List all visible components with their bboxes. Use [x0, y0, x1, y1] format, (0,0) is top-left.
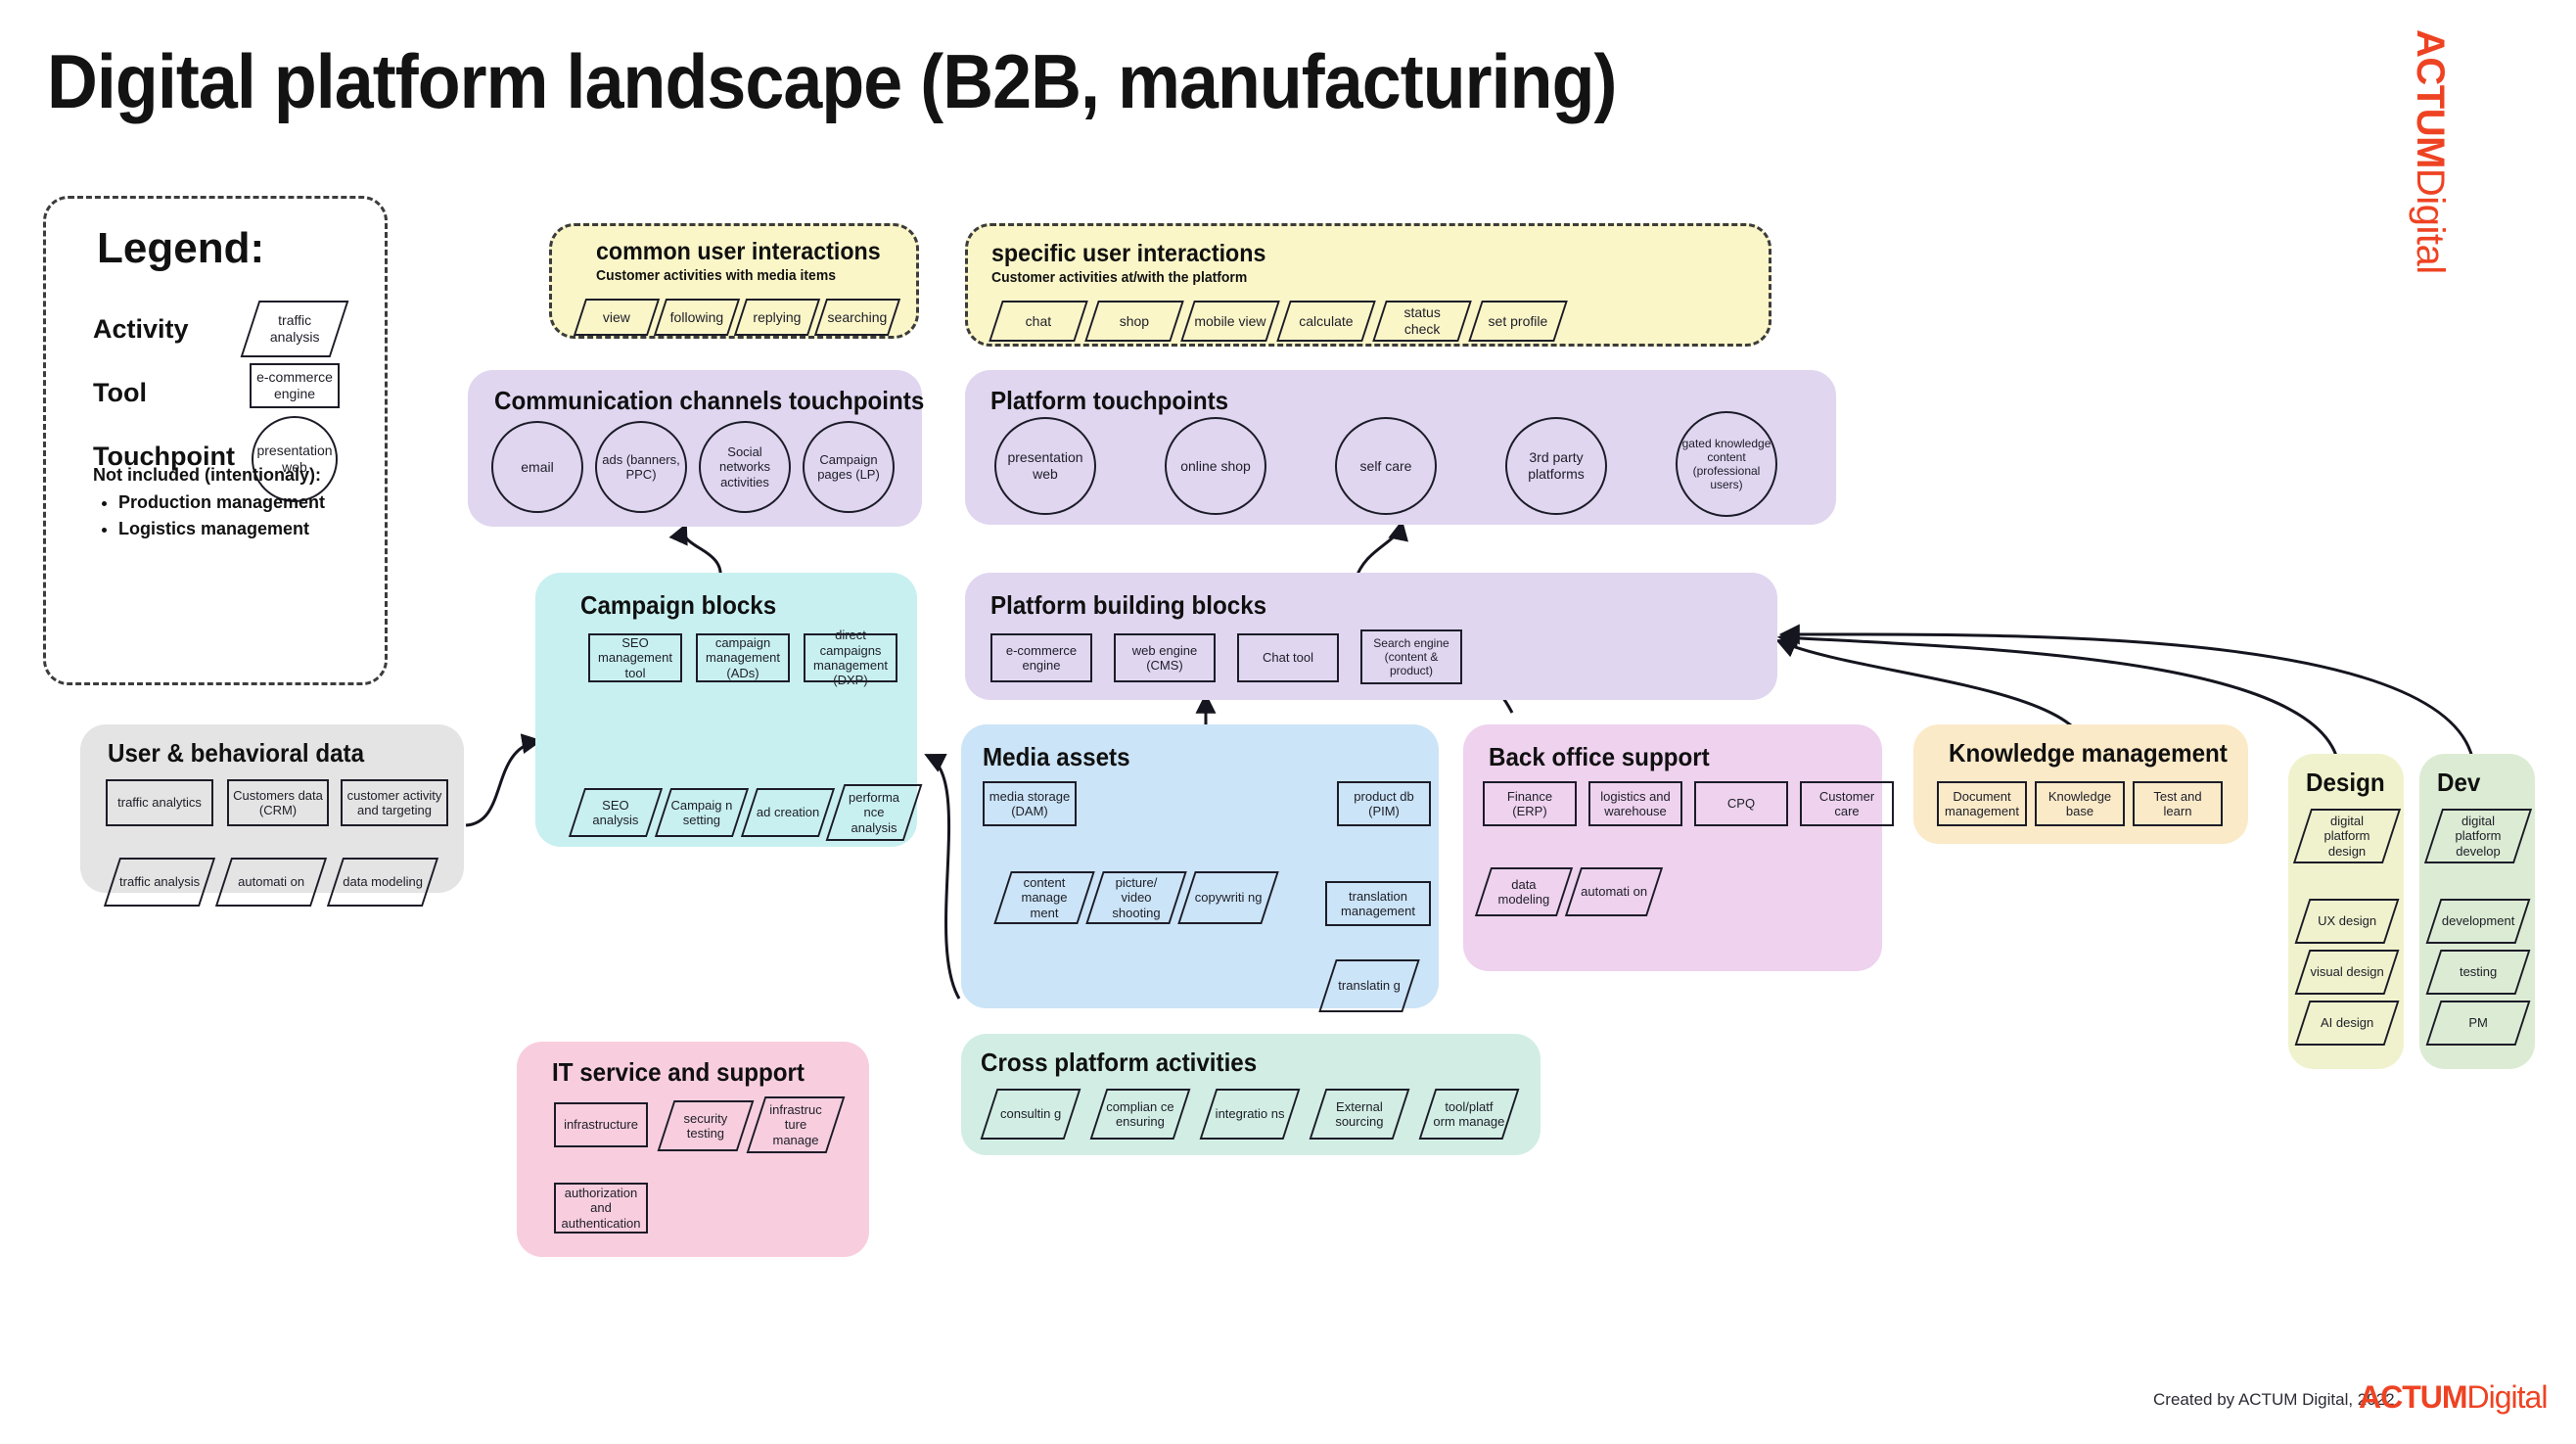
- group-media-assets: Media assets media storage (DAM) product…: [961, 724, 1439, 1008]
- tool-translation-management: translation management: [1325, 881, 1431, 926]
- activity-digital-platform-develop: digital platform develop: [2424, 809, 2532, 863]
- group-title-it-service-and-support: IT service and support: [552, 1057, 805, 1088]
- activity-seo-analysis: SEO analysis: [569, 788, 663, 837]
- group-back-office-support: Back office support Finance (ERP) logist…: [1463, 724, 1882, 971]
- group-knowledge-management: Knowledge management Document management…: [1913, 724, 2248, 844]
- group-title-dev: Dev: [2437, 768, 2480, 798]
- tool-infrastructure: infrastructure: [554, 1102, 648, 1147]
- tool-logistics-warehouse: logistics and warehouse: [1588, 781, 1682, 826]
- tool-chat-tool: Chat tool: [1237, 633, 1339, 682]
- tool-finance-erp: Finance (ERP): [1483, 781, 1577, 826]
- group-subtitle-specific-user-interactions: Customer activities at/with the platform: [991, 269, 1247, 286]
- activity-label: automati on: [229, 874, 313, 889]
- group-cross-platform-activities: Cross platform activities consultin g co…: [961, 1034, 1541, 1155]
- tool-media-storage-dam: media storage (DAM): [983, 781, 1077, 826]
- touchpoint-email: email: [491, 421, 583, 513]
- group-platform-building-blocks: Platform building blocks e-commerce engi…: [965, 573, 1777, 700]
- activity-tool-platform-manage: tool/platf orm manage: [1419, 1089, 1520, 1140]
- activity-label: translatin g: [1333, 978, 1405, 993]
- legend-sample-tool: e-commerce engine: [250, 363, 340, 408]
- activity-following: following: [654, 299, 740, 336]
- activity-pm: PM: [2426, 1001, 2531, 1046]
- touchpoint-gated-knowledge-content: gated knowledge content (professional us…: [1676, 411, 1777, 517]
- group-title-campaign-blocks: Campaign blocks: [580, 590, 776, 621]
- activity-label: visual design: [2308, 964, 2386, 979]
- activity-label: External sourcing: [1323, 1099, 1396, 1130]
- group-dev: Dev digital platform develop development…: [2419, 754, 2535, 1069]
- activity-copywriting: copywriti ng: [1177, 871, 1279, 924]
- touchpoint-social-networks: Social networks activities: [699, 421, 791, 513]
- activity-label: traffic analysis: [117, 874, 202, 889]
- group-title-platform-building-blocks: Platform building blocks: [990, 590, 1266, 621]
- footer-brand-bold: ACTUM: [2359, 1379, 2467, 1415]
- activity-status-check: status check: [1372, 301, 1472, 342]
- activity-label: data modeling: [1489, 877, 1559, 908]
- activity-label: picture/ video shooting: [1100, 875, 1173, 920]
- footer-brand-light: Digital: [2467, 1379, 2548, 1415]
- legend-not-included-list: Production management Logistics manageme…: [93, 489, 325, 542]
- activity-label: UX design: [2308, 913, 2386, 928]
- tool-search-engine: Search engine (content & product): [1360, 629, 1462, 684]
- activity-external-sourcing: External sourcing: [1310, 1089, 1410, 1140]
- activity-ad-creation: ad creation: [741, 788, 835, 837]
- touchpoint-campaign-pages: Campaign pages (LP): [803, 421, 895, 513]
- group-title-communication-channels: Communication channels touchpoints: [494, 386, 924, 416]
- legend-panel: Legend: Activity traffic analysis Tool e…: [43, 196, 388, 685]
- wire-pbb-to-touchpoints: [1356, 524, 1402, 580]
- tool-direct-campaigns-dxp: direct campaigns management (DXP): [804, 633, 897, 682]
- activity-label: tool/platf orm manage: [1433, 1099, 1505, 1130]
- activity-label: set profile: [1481, 313, 1555, 330]
- tool-customer-care: Customer care: [1800, 781, 1894, 826]
- activity-label: data modeling: [341, 874, 425, 889]
- legend-not-included-item: Logistics management: [118, 516, 325, 542]
- activity-label: mobile view: [1193, 313, 1267, 330]
- group-specific-user-interactions: specific user interactions Customer acti…: [965, 223, 1771, 347]
- tool-e-commerce-engine: e-commerce engine: [990, 633, 1092, 682]
- wire-userdata-to-campaign: [466, 741, 538, 825]
- tool-test-and-learn: Test and learn: [2133, 781, 2223, 826]
- activity-label: security testing: [671, 1111, 740, 1141]
- group-subtitle-common-user-interactions: Customer activities with media items: [596, 267, 836, 284]
- touchpoint-online-shop: online shop: [1165, 417, 1266, 515]
- legend-sample-activity-label: traffic analysis: [255, 312, 334, 345]
- activity-replying: replying: [734, 299, 820, 336]
- activity-label: content manage ment: [1008, 875, 1081, 920]
- activity-consulting: consultin g: [981, 1089, 1081, 1140]
- group-common-user-interactions: common user interactions Customer activi…: [549, 223, 919, 339]
- group-campaign-blocks: Campaign blocks SEO management tool camp…: [535, 573, 917, 847]
- group-title-knowledge-management: Knowledge management: [1949, 738, 2228, 769]
- activity-mobile-view: mobile view: [1180, 301, 1280, 342]
- group-title-back-office-support: Back office support: [1489, 742, 1710, 772]
- activity-translating: translatin g: [1318, 959, 1420, 1012]
- activity-ux-design: UX design: [2295, 899, 2400, 944]
- activity-label: automati on: [1579, 884, 1649, 899]
- touchpoint-presentation-web: presentation web: [994, 417, 1096, 515]
- activity-label: infrastruc ture manage: [761, 1102, 830, 1147]
- tool-cpq: CPQ: [1694, 781, 1788, 826]
- activity-label: chat: [1001, 313, 1076, 330]
- touchpoint-self-care: self care: [1335, 417, 1437, 515]
- group-user-behavioral-data: User & behavioral data traffic analytics…: [80, 724, 464, 893]
- tool-customers-data-crm: Customers data (CRM): [227, 779, 329, 826]
- activity-label: performa nce analysis: [841, 790, 907, 835]
- group-title-design: Design: [2306, 768, 2385, 798]
- activity-automation: automati on: [215, 858, 327, 907]
- activity-traffic-analysis: traffic analysis: [104, 858, 215, 907]
- activity-label: copywriti ng: [1192, 890, 1265, 905]
- activity-label: integratio ns: [1214, 1106, 1286, 1121]
- tool-document-management: Document management: [1937, 781, 2027, 826]
- legend-not-included-item: Production management: [118, 489, 325, 516]
- tool-customer-activity-targeting: customer activity and targeting: [341, 779, 448, 826]
- legend-label-activity: Activity: [93, 314, 189, 345]
- activity-label: following: [666, 309, 728, 326]
- activity-testing: testing: [2426, 950, 2531, 995]
- activity-label: calculate: [1289, 313, 1363, 330]
- activity-integrations: integratio ns: [1200, 1089, 1301, 1140]
- tool-traffic-analytics: traffic analytics: [106, 779, 213, 826]
- activity-security-testing: security testing: [658, 1100, 755, 1151]
- activity-label: complian ce ensuring: [1104, 1099, 1176, 1130]
- activity-label: status check: [1385, 304, 1459, 337]
- activity-development: development: [2426, 899, 2531, 944]
- brand-bold-text: ACTUM: [2409, 29, 2452, 168]
- legend-not-included-title: Not included (intentionaly):: [93, 465, 325, 486]
- activity-content-management: content manage ment: [993, 871, 1095, 924]
- activity-calculate: calculate: [1276, 301, 1376, 342]
- activity-view: view: [574, 299, 660, 336]
- activity-label: digital platform design: [2308, 814, 2386, 859]
- group-title-platform-touchpoints: Platform touchpoints: [990, 386, 1228, 416]
- legend-sample-activity: traffic analysis: [241, 301, 349, 357]
- activity-automation: automati on: [1565, 867, 1663, 916]
- activity-set-profile: set profile: [1468, 301, 1568, 342]
- group-title-common-user-interactions: common user interactions: [596, 238, 881, 266]
- tool-campaign-management-ads: campaign management (ADs): [696, 633, 790, 682]
- activity-label: SEO analysis: [582, 798, 649, 828]
- wire-media-to-campaign: [928, 756, 959, 999]
- actum-digital-logo-side: ACTUMDigital: [2408, 29, 2452, 274]
- tool-product-db-pim: product db (PIM): [1337, 781, 1431, 826]
- activity-label: ad creation: [755, 805, 821, 819]
- actum-digital-logo-footer: ACTUMDigital: [2359, 1379, 2547, 1416]
- group-design: Design digital platform design UX design…: [2288, 754, 2404, 1069]
- activity-label: AI design: [2308, 1015, 2386, 1030]
- activity-visual-design: visual design: [2295, 950, 2400, 995]
- brand-light-text: Digital: [2409, 168, 2452, 274]
- activity-performance-analysis: performa nce analysis: [826, 784, 923, 841]
- activity-compliance-ensuring: complian ce ensuring: [1090, 1089, 1191, 1140]
- activity-ai-design: AI design: [2295, 1001, 2400, 1046]
- activity-infrastructure-manage: infrastruc ture manage: [747, 1096, 846, 1153]
- activity-picture-video-shooting: picture/ video shooting: [1085, 871, 1187, 924]
- activity-label: replying: [746, 309, 808, 326]
- activity-label: testing: [2439, 964, 2517, 979]
- activity-label: view: [585, 309, 648, 326]
- activity-shop: shop: [1084, 301, 1184, 342]
- activity-data-modeling: data modeling: [1475, 867, 1573, 916]
- activity-label: PM: [2439, 1015, 2517, 1030]
- group-communication-channels-touchpoints: Communication channels touchpoints email…: [468, 370, 922, 527]
- tool-web-engine-cms: web engine (CMS): [1114, 633, 1216, 682]
- group-platform-touchpoints: Platform touchpoints presentation web on…: [965, 370, 1836, 525]
- group-it-service-and-support: IT service and support infrastructure au…: [517, 1042, 869, 1257]
- touchpoint-ads: ads (banners, PPC): [595, 421, 687, 513]
- group-title-media-assets: Media assets: [983, 742, 1130, 772]
- activity-searching: searching: [814, 299, 900, 336]
- activity-label: consultin g: [994, 1106, 1067, 1121]
- legend-not-included: Not included (intentionaly): Production …: [93, 465, 325, 542]
- group-title-user-behavioral-data: User & behavioral data: [108, 738, 364, 769]
- legend-label-tool: Tool: [93, 378, 147, 408]
- activity-digital-platform-design: digital platform design: [2293, 809, 2401, 863]
- activity-label: shop: [1097, 313, 1172, 330]
- activity-chat: chat: [989, 301, 1088, 342]
- tool-seo-management: SEO management tool: [588, 633, 682, 682]
- tool-authorization-authentication: authorization and authentication: [554, 1183, 648, 1234]
- activity-label: searching: [826, 309, 889, 326]
- activity-label: digital platform develop: [2439, 814, 2517, 859]
- page-title: Digital platform landscape (B2B, manufac…: [47, 37, 1616, 126]
- tool-knowledge-base: Knowledge base: [2035, 781, 2125, 826]
- activity-label: development: [2439, 913, 2517, 928]
- legend-heading: Legend:: [97, 224, 264, 273]
- activity-campaign-setting: Campaig n setting: [655, 788, 749, 837]
- group-title-specific-user-interactions: specific user interactions: [991, 240, 1265, 268]
- activity-data-modeling: data modeling: [327, 858, 438, 907]
- group-title-cross-platform-activities: Cross platform activities: [981, 1048, 1257, 1078]
- activity-label: Campaig n setting: [668, 798, 735, 828]
- touchpoint-3rd-party-platforms: 3rd party platforms: [1505, 417, 1607, 515]
